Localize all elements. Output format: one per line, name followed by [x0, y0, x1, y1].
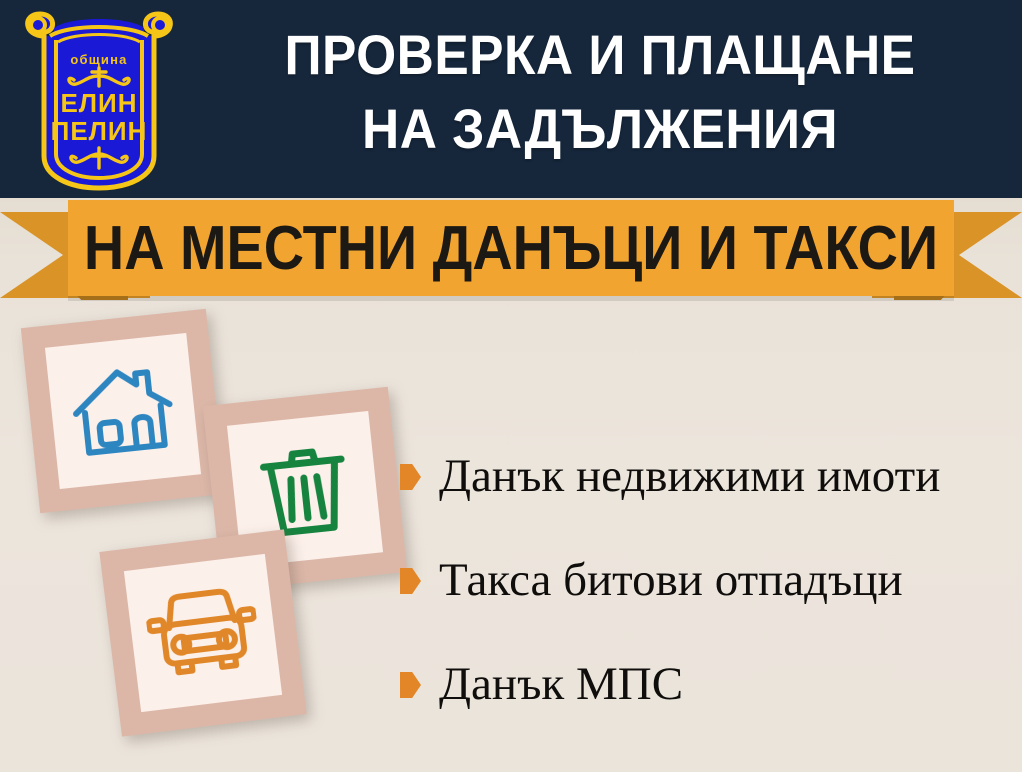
tax-types-list: Данък недвижими имоти Такса битови отпад… — [400, 425, 1010, 737]
list-item-label: Данък МПС — [439, 660, 683, 709]
bullet-arrow-icon — [400, 672, 421, 698]
trash-bin-icon — [252, 435, 358, 542]
logo-word-pelin: ПЕЛИН — [51, 116, 148, 146]
list-item[interactable]: Такса битови отпадъци — [400, 529, 1010, 633]
poster-root: ПРОВЕРКА И ПЛАЩАНЕ НА ЗАДЪЛЖЕНИЯ община — [0, 0, 1022, 772]
car-front-icon — [143, 584, 263, 683]
logo-word-elin: ЕЛИН — [60, 88, 137, 118]
logo-word-obshtina: община — [70, 52, 127, 67]
stamp-card-property — [21, 309, 225, 513]
ribbon-label: НА МЕСТНИ ДАНЪЦИ И ТАКСИ — [112, 200, 909, 296]
list-item-label: Данък недвижими имоти — [439, 452, 940, 501]
stamp-paper-vehicle — [124, 554, 282, 712]
page-title-line-2: НА ЗАДЪЛЖЕНИЯ — [223, 92, 977, 166]
municipality-logo: община ЕЛИН ПЕЛИН — [14, 6, 184, 192]
bullet-arrow-icon — [400, 568, 421, 594]
stamp-card-vehicle — [99, 529, 306, 736]
list-item[interactable]: Данък МПС — [400, 633, 1010, 737]
page-title-line-1: ПРОВЕРКА И ПЛАЩАНЕ — [223, 18, 977, 92]
bullet-arrow-icon — [400, 464, 421, 490]
list-item[interactable]: Данък недвижими имоти — [400, 425, 1010, 529]
list-item-label: Такса битови отпадъци — [439, 556, 903, 605]
page-title: ПРОВЕРКА И ПЛАЩАНЕ НА ЗАДЪЛЖЕНИЯ — [223, 18, 977, 166]
stamp-paper-property — [45, 333, 201, 489]
house-icon — [66, 358, 179, 464]
ribbon-body: НА МЕСТНИ ДАНЪЦИ И ТАКСИ — [68, 200, 954, 296]
ribbon-banner: НА МЕСТНИ ДАНЪЦИ И ТАКСИ — [0, 198, 1022, 308]
